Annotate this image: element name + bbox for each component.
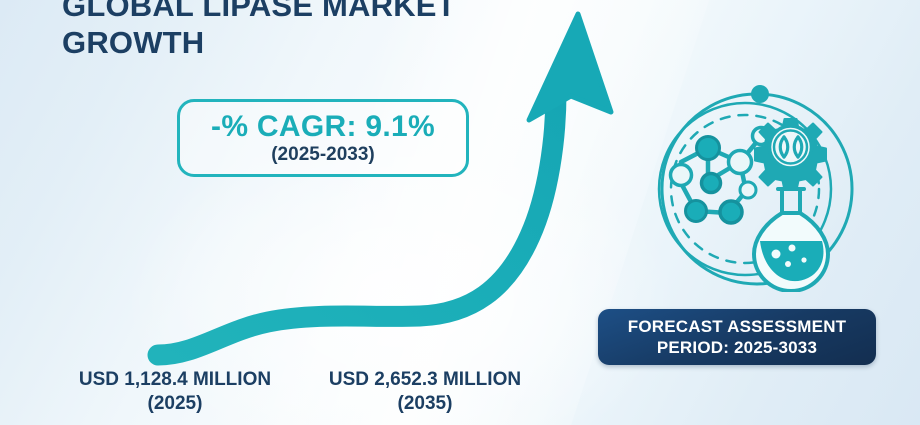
end-value-amount: USD 2,652.3 MILLION bbox=[300, 368, 550, 392]
page-title: GLOBAL LIPASE MARKET GROWTH bbox=[62, 0, 582, 61]
value-label-end: USD 2,652.3 MILLION (2035) bbox=[300, 368, 550, 416]
end-value-year: (2035) bbox=[300, 392, 550, 416]
forecast-assessment-badge: FORECAST ASSESSMENT PERIOD: 2025-3033 bbox=[598, 309, 876, 365]
cagr-period: (2025-2033) bbox=[271, 144, 375, 166]
forecast-line-2: PERIOD: 2025-3033 bbox=[657, 337, 817, 358]
title-line-1: GLOBAL LIPASE MARKET bbox=[62, 0, 582, 24]
value-label-start: USD 1,128.4 MILLION (2025) bbox=[45, 368, 305, 416]
cagr-value: -% CAGR: 9.1% bbox=[211, 110, 435, 143]
gear-dna-icon bbox=[755, 119, 826, 190]
science-emblem bbox=[636, 78, 854, 292]
start-value-year: (2025) bbox=[45, 392, 305, 416]
start-value-amount: USD 1,128.4 MILLION bbox=[45, 368, 305, 392]
forecast-line-1: FORECAST ASSESSMENT bbox=[628, 316, 847, 337]
lab-flask-icon bbox=[754, 189, 828, 291]
infographic-canvas: GLOBAL LIPASE MARKET GROWTH -% CAGR: 9.1… bbox=[0, 0, 920, 425]
title-line-2: GROWTH bbox=[62, 24, 582, 61]
emblem-ring-dot bbox=[751, 85, 769, 103]
cagr-badge: -% CAGR: 9.1% (2025-2033) bbox=[177, 99, 469, 177]
